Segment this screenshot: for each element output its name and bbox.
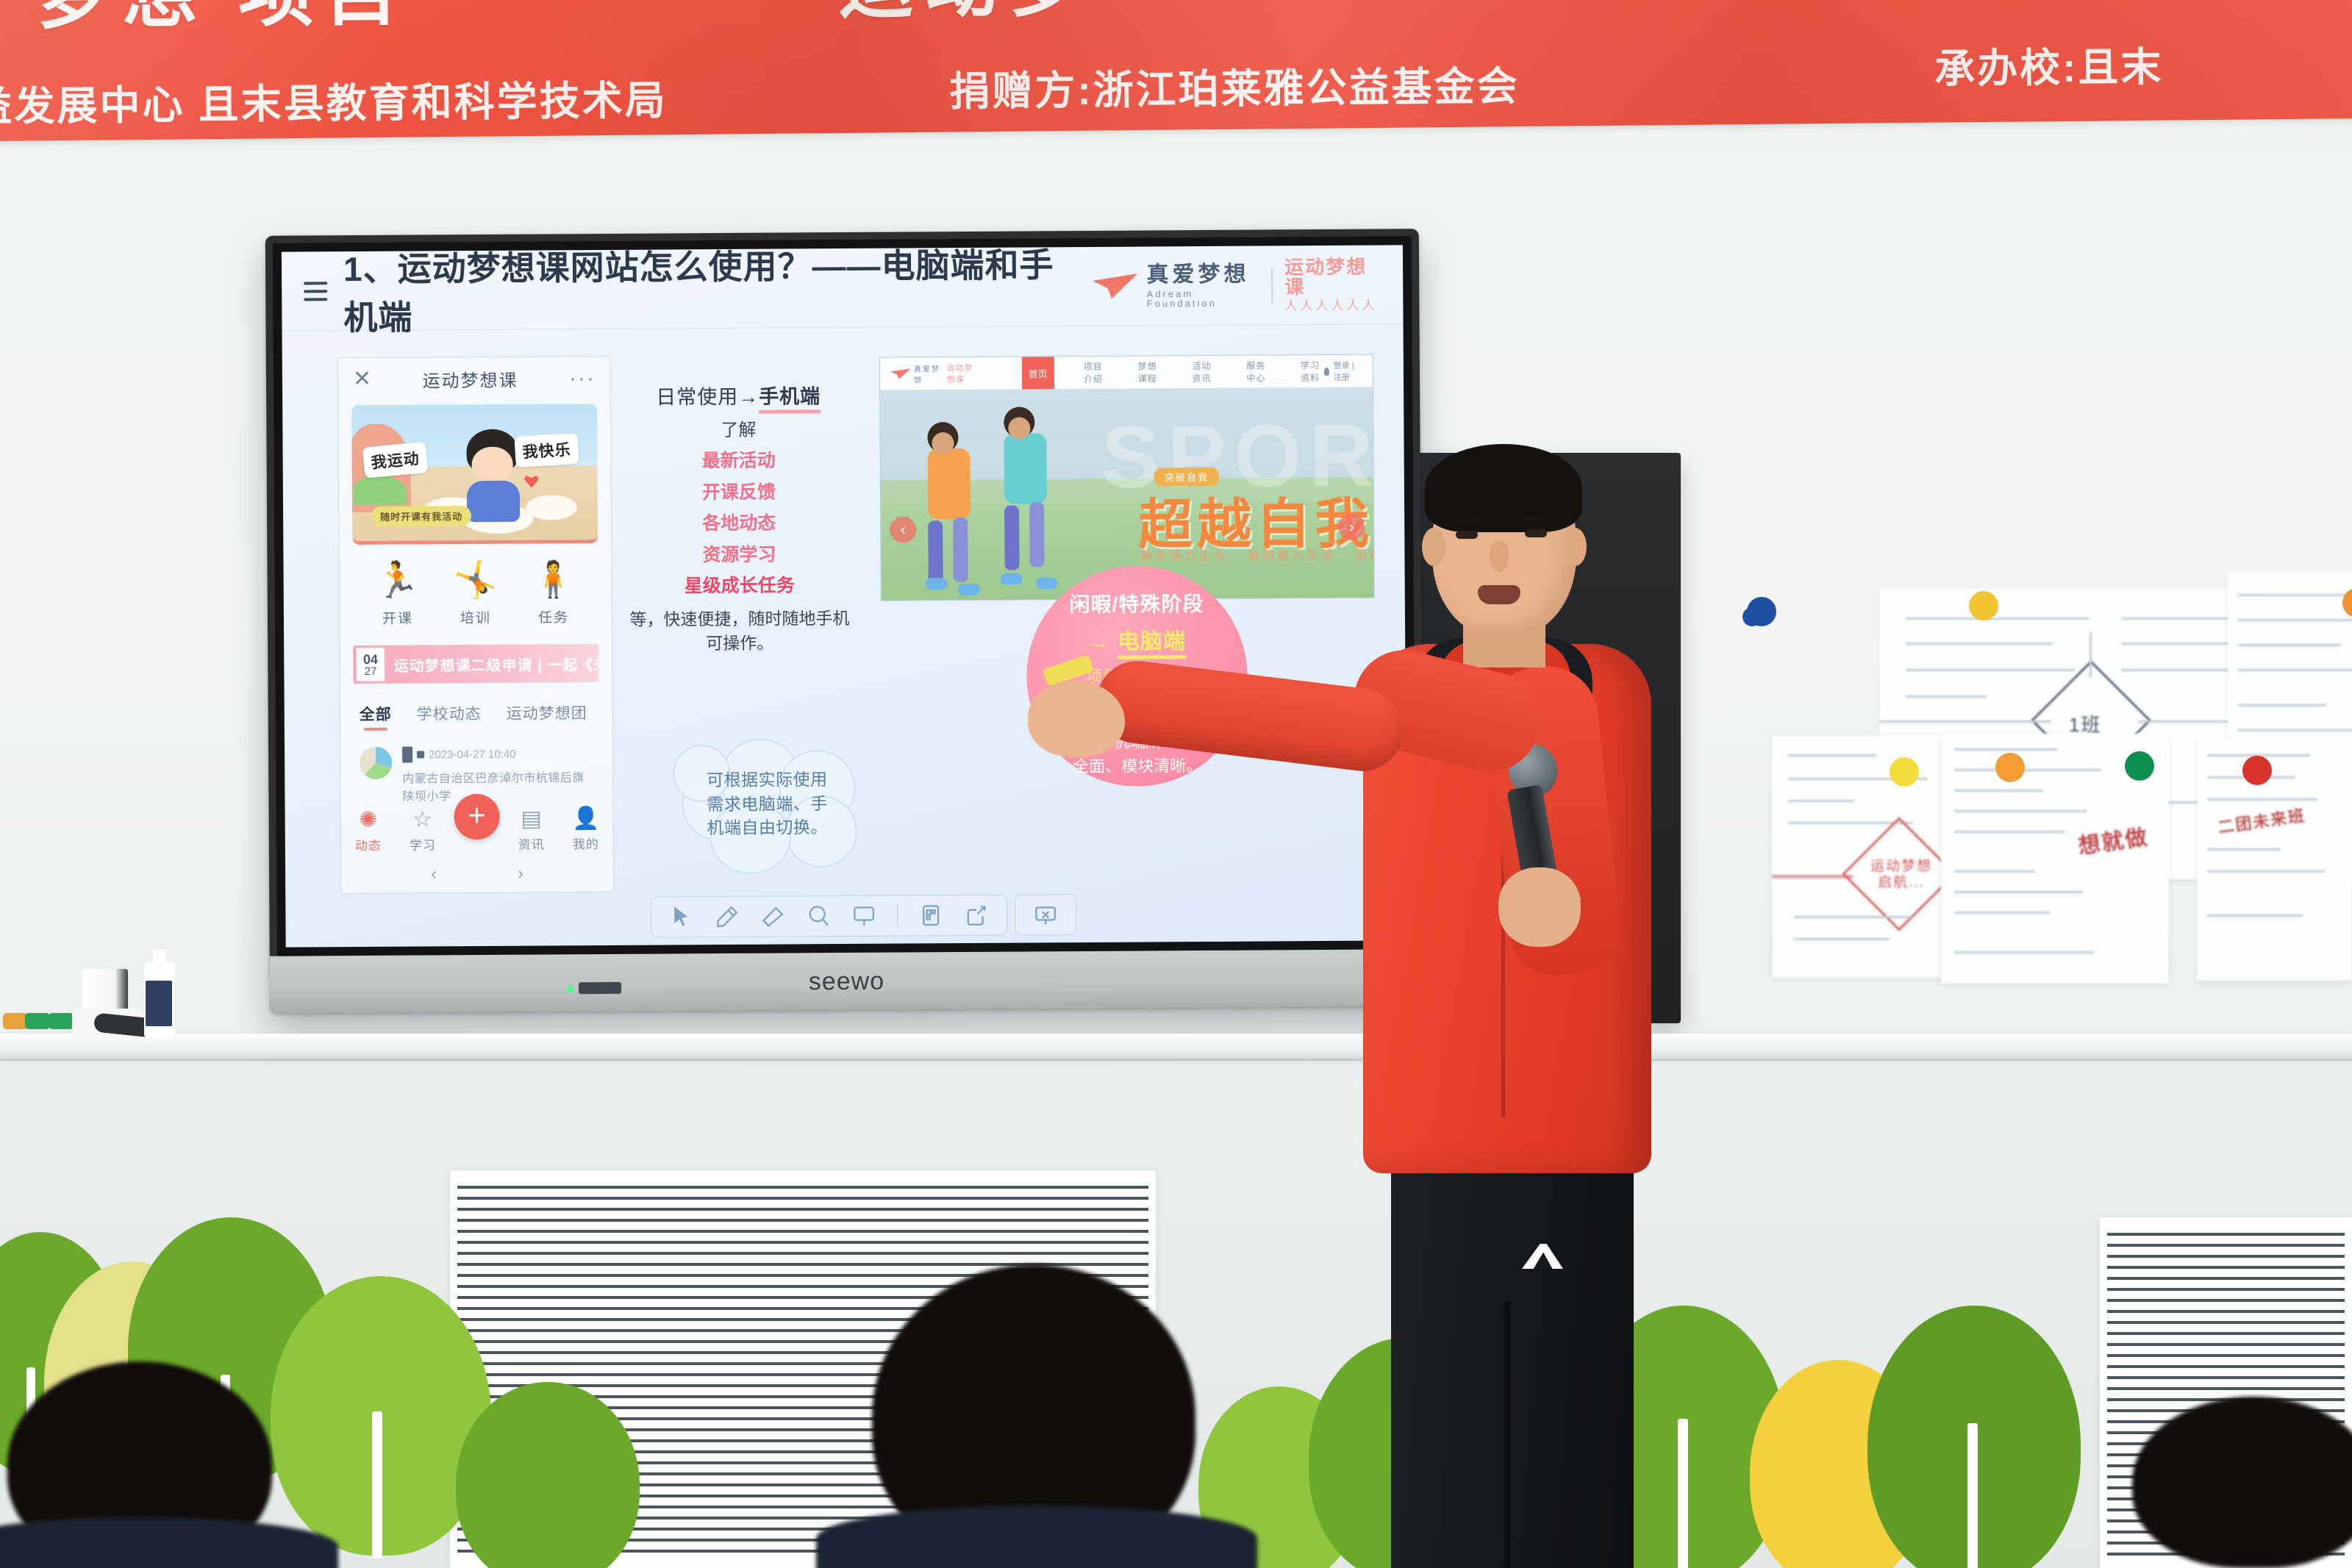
annotation-heading-emph: 手机端: [759, 385, 821, 414]
nav-dongtai[interactable]: ✺ 动态: [341, 809, 396, 853]
activity-icon: ✺: [341, 809, 396, 831]
share-icon[interactable]: [964, 903, 989, 928]
hero-pill-label: 随时开课有我活动: [371, 506, 471, 526]
adream-logo: 真爱梦想 Adream Foundation: [1093, 263, 1260, 308]
wall-paper-5: 二团未来班: [2197, 738, 2352, 981]
presenter-person: [1345, 441, 1787, 1568]
board-ledge: [0, 1034, 2352, 1059]
website-nav-items: 项目介绍 梦想课程 活动资讯 服务中心 学习资料: [1084, 359, 1324, 385]
whiteboard-icon[interactable]: [851, 903, 876, 928]
tab-all[interactable]: 全部: [360, 703, 392, 725]
avatar: [360, 747, 392, 779]
toolbar-divider: [897, 905, 898, 927]
annotation-tail: 等，快速便捷，随时随地手机可操作。: [629, 606, 850, 657]
cloud-line-1: 可根据实际使用: [707, 767, 828, 792]
board-toolbar[interactable]: [650, 894, 1076, 938]
slide-title: 1、运动梦想课网站怎么使用？——电脑端和手机端: [343, 245, 1077, 339]
interactive-smart-board[interactable]: 1、运动梦想课网站怎么使用？——电脑端和手机端 真爱梦想 Adream Foun…: [265, 229, 1423, 1014]
promo-day: 27: [365, 665, 377, 676]
close-icon[interactable]: ✕: [353, 368, 371, 390]
add-post-button[interactable]: +: [454, 794, 499, 840]
adream-logo-en: Adream Foundation: [1147, 288, 1260, 308]
pager-next-icon[interactable]: ›: [518, 864, 523, 884]
presenter-hair: [1425, 444, 1582, 532]
quick-action-kaike-label: 开课: [359, 607, 437, 628]
nav-item-intro[interactable]: 项目介绍: [1084, 360, 1107, 385]
exit-icon[interactable]: [1033, 902, 1058, 927]
user-icon: 👤: [559, 808, 613, 830]
user-icon: [1324, 367, 1329, 375]
annotation-item-3: 各地动态: [629, 510, 849, 537]
pin-magnet-yellow-2: [1890, 757, 1919, 787]
sport-course-logo: 运动梦想课 人人人人人人: [1284, 257, 1381, 312]
feed-timestamp: 2023-04-27 10:40: [429, 748, 516, 761]
presenter-eye-left: [1456, 531, 1478, 539]
banner-host-school: 承办校:且末: [1934, 13, 2352, 95]
audience-shoulders-2: [816, 1506, 1257, 1568]
website-logo-cn: 真爱梦想: [914, 362, 941, 384]
mobile-annotation-block: 日常使用→手机端 了解 最新活动 开课反馈 各地动态 资源学习 星级成长任务 等…: [628, 382, 850, 656]
phone-feed-tabs: 全部 学校动态 运动梦想团: [340, 682, 612, 725]
ledge-magnet-3[interactable]: [49, 1013, 74, 1029]
slide-header: 1、运动梦想课网站怎么使用？——电脑端和手机端 真爱梦想 Adream Foun…: [282, 245, 1404, 331]
paper-4-stamp: 想就做: [2076, 819, 2150, 861]
pen-icon[interactable]: [715, 904, 740, 929]
news-icon: ▤: [504, 808, 559, 830]
tab-school-news[interactable]: 学校动态: [417, 702, 482, 725]
website-account-area[interactable]: 登录 | 注册: [1324, 359, 1362, 383]
nav-home-button[interactable]: 首页: [1021, 357, 1054, 389]
phone-app-mockup[interactable]: ✕ 运动梦想课 ··· 我运动: [337, 356, 614, 894]
quick-action-kaike[interactable]: 🏃 开课: [359, 563, 437, 628]
nav-dongtai-label: 动态: [341, 835, 396, 853]
feed-item[interactable]: 2023-04-27 10:40 内蒙古自治区巴彦淖尔市杭锦后旗陕坝小学: [340, 723, 613, 804]
pc-callout-line-1: 闲暇/特殊阶段: [1069, 590, 1204, 619]
presenter-hand-holding-mic: [1498, 867, 1581, 947]
quick-action-peixun[interactable]: 🤸 培训: [437, 563, 515, 628]
annotation-heading-prefix: 日常使用→: [656, 386, 759, 409]
phone-quick-actions: 🏃 开课 🤸 培训 🧍 任务: [339, 543, 612, 628]
eraser-icon[interactable]: [760, 904, 785, 929]
hamburger-icon[interactable]: [304, 282, 327, 301]
slide-logos: 真爱梦想 Adream Foundation 运动梦想课 人人人人人人: [1093, 257, 1381, 314]
jumper-icon: 🤸: [437, 563, 515, 599]
phone-app-header: ✕ 运动梦想课 ···: [338, 357, 610, 401]
nav-item-service[interactable]: 服务中心: [1246, 359, 1270, 384]
nav-item-courses[interactable]: 梦想课程: [1138, 359, 1162, 384]
presenter-ear-right: [1563, 528, 1587, 566]
cursor-icon[interactable]: [669, 904, 694, 929]
hero-bubble-right: 我快乐: [514, 433, 579, 468]
promo-month: 04: [363, 652, 378, 665]
phone-app-title: 运动梦想课: [371, 365, 569, 393]
phone-hero-banner[interactable]: 我运动 我快乐 随时开课有我活动: [351, 404, 598, 545]
person-icon: 🧍: [515, 562, 593, 598]
presenter-mouth: [1478, 585, 1520, 604]
annotation-item-1: 最新活动: [629, 448, 849, 475]
presenter-nose: [1490, 541, 1509, 572]
board-screen[interactable]: 1、运动梦想课网站怎么使用？——电脑端和手机端 真爱梦想 Adream Foun…: [282, 245, 1407, 947]
pager-prev-icon[interactable]: ‹: [431, 864, 437, 884]
pin-magnet-orange: [1995, 753, 2025, 782]
chevron-left-icon[interactable]: ‹: [890, 516, 916, 543]
presenter-pants: [1391, 1147, 1634, 1568]
annotation-item-2: 开课反馈: [629, 479, 849, 506]
nav-zixun[interactable]: ▤ 资讯: [504, 808, 559, 852]
nav-xuexi[interactable]: ☆ 学习: [396, 809, 450, 853]
nav-wode[interactable]: 👤 我的: [559, 808, 613, 852]
more-dots-icon[interactable]: ···: [569, 375, 596, 382]
annotation-heading: 日常使用→手机端: [628, 382, 848, 412]
logo-divider: [1271, 268, 1273, 302]
board-brand-label: seewo: [809, 967, 885, 996]
star-icon: ☆: [396, 809, 450, 831]
magnifier-icon[interactable]: [806, 903, 831, 928]
thought-cloud: 可根据实际使用 需求电脑端、手 机端自由切换。: [674, 734, 860, 875]
board-chin: seewo: [270, 949, 1423, 1014]
phone-pager: ‹ ›: [341, 861, 613, 887]
promo-text: 运动梦想课二级申请 | 一起《未来的运动课》: [394, 653, 599, 676]
cleaner-bottle-label: [146, 981, 172, 1026]
cloud-line-2: 需求电脑端、手: [707, 792, 828, 817]
nav-wode-label: 我的: [559, 834, 613, 852]
heart-icon: [524, 475, 539, 488]
feed-author-row: 2023-04-27 10:40: [402, 745, 593, 763]
pin-magnet-red: [2242, 756, 2272, 785]
pin-magnet-yellow: [1969, 591, 1998, 620]
classroom-scene: 梦想 项目 运动梦 益发展中心 且末县教育和科学技术局 捐赠方:浙江珀莱雅公益基…: [0, 0, 2352, 1568]
cloud-line-3: 机端自由切换。: [707, 815, 828, 840]
toolbar-main-group: [650, 895, 1007, 938]
hero-player-blue: [1004, 407, 1047, 570]
runner-icon: 🏃: [359, 563, 437, 599]
nav-item-materials[interactable]: 学习资料: [1301, 359, 1324, 384]
website-logo-sport: 运动梦想课: [947, 362, 981, 385]
toolbar-exit-group: [1014, 894, 1076, 936]
thought-cloud-text: 可根据实际使用 需求电脑端、手 机端自由切换。: [674, 734, 860, 875]
quick-action-renwu-label: 任务: [515, 606, 593, 627]
quick-action-renwu[interactable]: 🧍 任务: [515, 562, 593, 627]
tab-dream-group[interactable]: 运动梦想团: [507, 701, 587, 724]
paper-plane-icon-small: [890, 368, 911, 379]
board-power-strip[interactable]: [579, 982, 621, 994]
pc-callout-line-6: 全面、模块清晰。: [1073, 755, 1202, 778]
hero-player-orange: [927, 422, 971, 585]
nav-xuexi-label: 学习: [396, 834, 450, 853]
annotation-sub: 了解: [628, 418, 848, 444]
hero-bubble-left: 我运动: [362, 442, 429, 479]
pc-callout-line-2: → 电脑端: [1087, 627, 1186, 657]
website-screenshot[interactable]: 真爱梦想 运动梦想课 首页 项目介绍 梦想课程 活动资讯 服务中心 学习资料: [879, 354, 1375, 601]
annotation-item-5: 星级成长任务: [629, 573, 850, 600]
website-navbar: 真爱梦想 运动梦想课 首页 项目介绍 梦想课程 活动资讯 服务中心 学习资料: [880, 355, 1373, 390]
pants-seam: [1504, 1301, 1510, 1568]
quick-action-peixun-label: 培训: [437, 607, 515, 628]
presenter-ear-left: [1422, 528, 1445, 566]
website-account-label: 登录 | 注册: [1334, 359, 1362, 383]
cleaner-bottle-cap[interactable]: [153, 950, 166, 966]
paper-3-center-label: 运动梦想启航...: [1863, 859, 1940, 891]
promo-date-chip: 04 27: [356, 648, 385, 681]
feed-school-name: 内蒙古自治区巴彦淖尔市杭锦后旗陕坝小学: [402, 767, 593, 804]
sport-course-figures: 人人人人人人: [1284, 299, 1381, 313]
annotation-item-4: 资源学习: [629, 542, 849, 569]
qrcode-icon[interactable]: [918, 903, 943, 928]
adream-logo-cn: 真爱梦想: [1146, 263, 1259, 286]
pin-magnet-green: [2125, 751, 2154, 781]
paper-5-stamp: 二团未来班: [2216, 803, 2306, 838]
presenter-eye-right: [1525, 529, 1547, 537]
sport-course-logo-cn: 运动梦想课: [1284, 257, 1381, 297]
pc-callout-emph: 电脑端: [1118, 629, 1186, 659]
pc-callout-arrow: →: [1087, 629, 1110, 654]
paper-plane-icon: [1093, 273, 1138, 298]
hero-subtitle: 激发活力生长 · 运动融入生活 · 运动快乐相伴: [1140, 544, 1373, 564]
wall-seam: [0, 1059, 2352, 1061]
audience-head-3: [2132, 1397, 2352, 1568]
phone-promo-banner[interactable]: 04 27 运动梦想课二级申请 | 一起《未来的运动课》: [353, 644, 598, 684]
ledge-magnet-1[interactable]: [3, 1013, 28, 1029]
event-banner: 梦想 项目 运动梦 益发展中心 且末县教育和科学技术局 捐赠方:浙江珀莱雅公益基…: [0, 0, 2352, 141]
nav-item-news[interactable]: 活动资讯: [1192, 359, 1215, 384]
ledge-magnet-2[interactable]: [25, 1013, 50, 1029]
nav-zixun-label: 资讯: [504, 834, 559, 852]
board-bezel: 1、运动梦想课网站怎么使用？——电脑端和手机端 真爱梦想 Adream Foun…: [273, 236, 1416, 956]
